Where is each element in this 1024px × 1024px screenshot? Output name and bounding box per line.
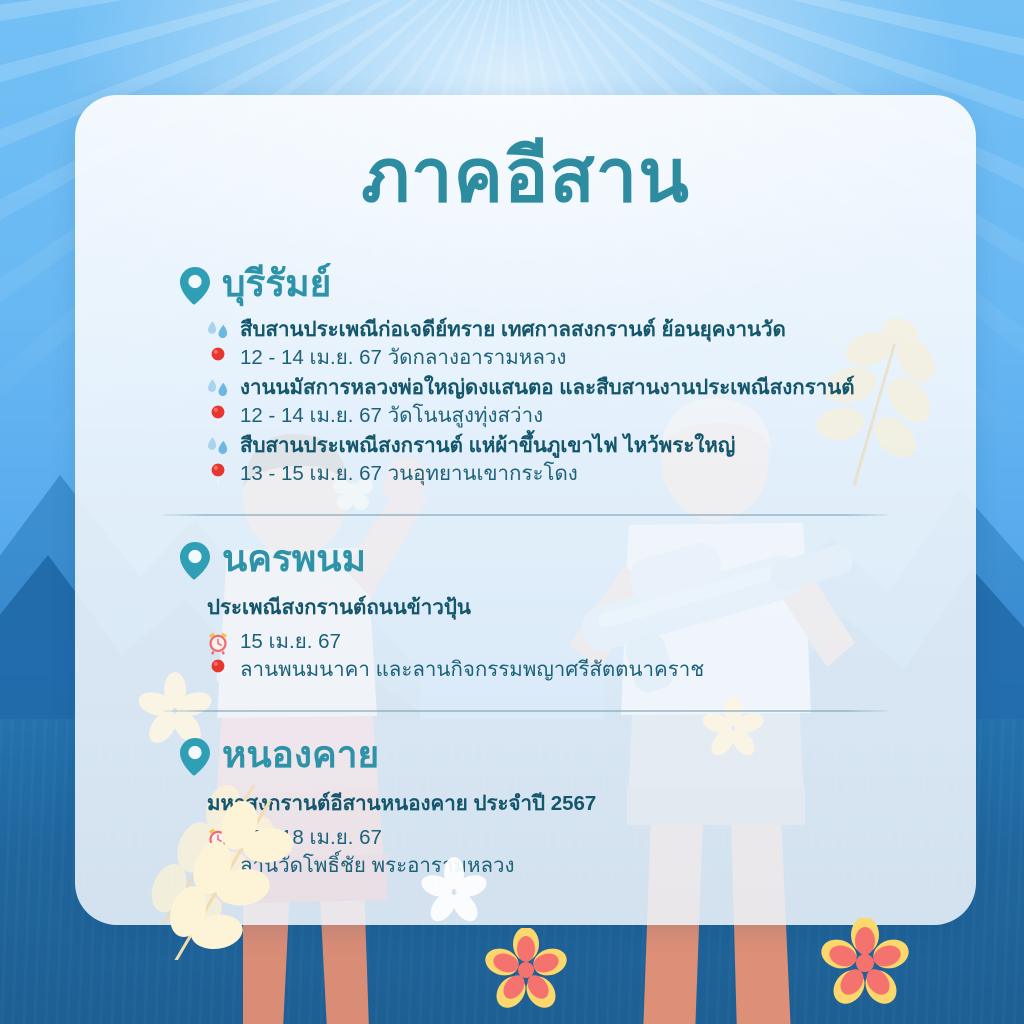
alarm-clock-icon (205, 826, 231, 852)
map-pin-icon (205, 346, 231, 372)
event-place: ลานพนมนาคา และลานกิจกรรมพญาศรีสัตตนาคราช (240, 656, 704, 683)
event-date-row: 12 - 18 เม.ย. 67 (205, 824, 888, 852)
map-pin-icon (205, 462, 231, 488)
water-droplets-icon (205, 434, 231, 460)
section-divider (163, 710, 888, 712)
province-name: หนองคาย (222, 736, 379, 777)
event-place: ลานวัดโพธิ์ชัย พระอารามหลวง (240, 852, 515, 879)
province-sections: บุรีรัมย์ สืบสานปร (75, 265, 976, 880)
map-pin-icon (205, 854, 231, 880)
content-card: ภาคอีสาน บุรีรัมย์ (75, 95, 976, 925)
page-title: ภาคอีสาน (75, 139, 976, 213)
event-list-nakhon-phanom: ประเพณีสงกรานต์ถนนข้าวปุ้น (205, 591, 888, 684)
alarm-clock-icon (205, 630, 231, 656)
event-place-row: ลานพนมนาคา และลานกิจกรรมพญาศรีสัตตนาคราช (205, 656, 888, 684)
event-title: สืบสานประเพณีสงกรานต์ แห่ผ้าขึ้นภูเขาไฟ … (240, 432, 735, 459)
location-pin-icon (179, 266, 211, 306)
event-title-row: สืบสานประเพณีสงกรานต์ แห่ผ้าขึ้นภูเขาไฟ … (205, 432, 888, 460)
event-list-buriram: สืบสานประเพณีก่อเจดีย์ทราย เทศกาลสงกรานต… (205, 316, 888, 488)
event-detail: 12 - 14 เม.ย. 67 วัดโนนสูงทุ่งสว่าง (240, 402, 543, 429)
event-headline: มหาสงกรานต์อีสานหนองคาย ประจำปี 2567 (207, 787, 888, 820)
event-place-row: ลานวัดโพธิ์ชัย พระอารามหลวง (205, 852, 888, 880)
section-divider (163, 514, 888, 516)
event-title-row: สืบสานประเพณีก่อเจดีย์ทราย เทศกาลสงกรานต… (205, 316, 888, 344)
event-list-nong-khai: มหาสงกรานต์อีสานหนองคาย ประจำปี 2567 (205, 787, 888, 880)
event-date-row: 15 เม.ย. 67 (205, 628, 888, 656)
event-detail: 12 - 14 เม.ย. 67 วัดกลางอารามหลวง (240, 344, 566, 371)
section-buriram: บุรีรัมย์ สืบสานปร (75, 265, 976, 488)
event-date: 12 - 18 เม.ย. 67 (240, 824, 382, 851)
event-title-row: งานนมัสการหลวงพ่อใหญ่ดงแสนตอ และสืบสานงา… (205, 374, 888, 402)
water-droplets-icon (205, 376, 231, 402)
event-headline: ประเพณีสงกรานต์ถนนข้าวปุ้น (207, 591, 888, 624)
event-detail-row: 12 - 14 เม.ย. 67 วัดโนนสูงทุ่งสว่าง (205, 402, 888, 430)
province-header-nakhon-phanom: นครพนม (179, 540, 888, 581)
event-title: งานนมัสการหลวงพ่อใหญ่ดงแสนตอ และสืบสานงา… (240, 374, 855, 401)
event-date: 15 เม.ย. 67 (240, 628, 341, 655)
section-nakhon-phanom: นครพนม ประเพณีสงกรานต์ถนนข้าวปุ้น (75, 540, 976, 684)
map-pin-icon (205, 404, 231, 430)
event-detail-row: 12 - 14 เม.ย. 67 วัดกลางอารามหลวง (205, 344, 888, 372)
province-header-buriram: บุรีรัมย์ (179, 265, 888, 306)
section-nong-khai: หนองคาย มหาสงกรานต์อีสานหนองคาย ประจำปี … (75, 736, 976, 880)
water-droplets-icon (205, 318, 231, 344)
province-header-nong-khai: หนองคาย (179, 736, 888, 777)
map-pin-icon (205, 658, 231, 684)
location-pin-icon (179, 541, 211, 581)
event-detail-row: 13 - 15 เม.ย. 67 วนอุทยานเขากระโดง (205, 460, 888, 488)
songkran-poster: ภาคอีสาน บุรีรัมย์ (0, 0, 1024, 1024)
event-detail: 13 - 15 เม.ย. 67 วนอุทยานเขากระโดง (240, 460, 578, 487)
province-name: บุรีรัมย์ (222, 265, 331, 306)
province-name: นครพนม (222, 540, 366, 581)
event-item: สืบสานประเพณีก่อเจดีย์ทราย เทศกาลสงกรานต… (205, 316, 888, 372)
location-pin-icon (179, 737, 211, 777)
event-title: สืบสานประเพณีก่อเจดีย์ทราย เทศกาลสงกรานต… (240, 316, 786, 343)
event-item: สืบสานประเพณีสงกรานต์ แห่ผ้าขึ้นภูเขาไฟ … (205, 432, 888, 488)
event-item: งานนมัสการหลวงพ่อใหญ่ดงแสนตอ และสืบสานงา… (205, 374, 888, 430)
